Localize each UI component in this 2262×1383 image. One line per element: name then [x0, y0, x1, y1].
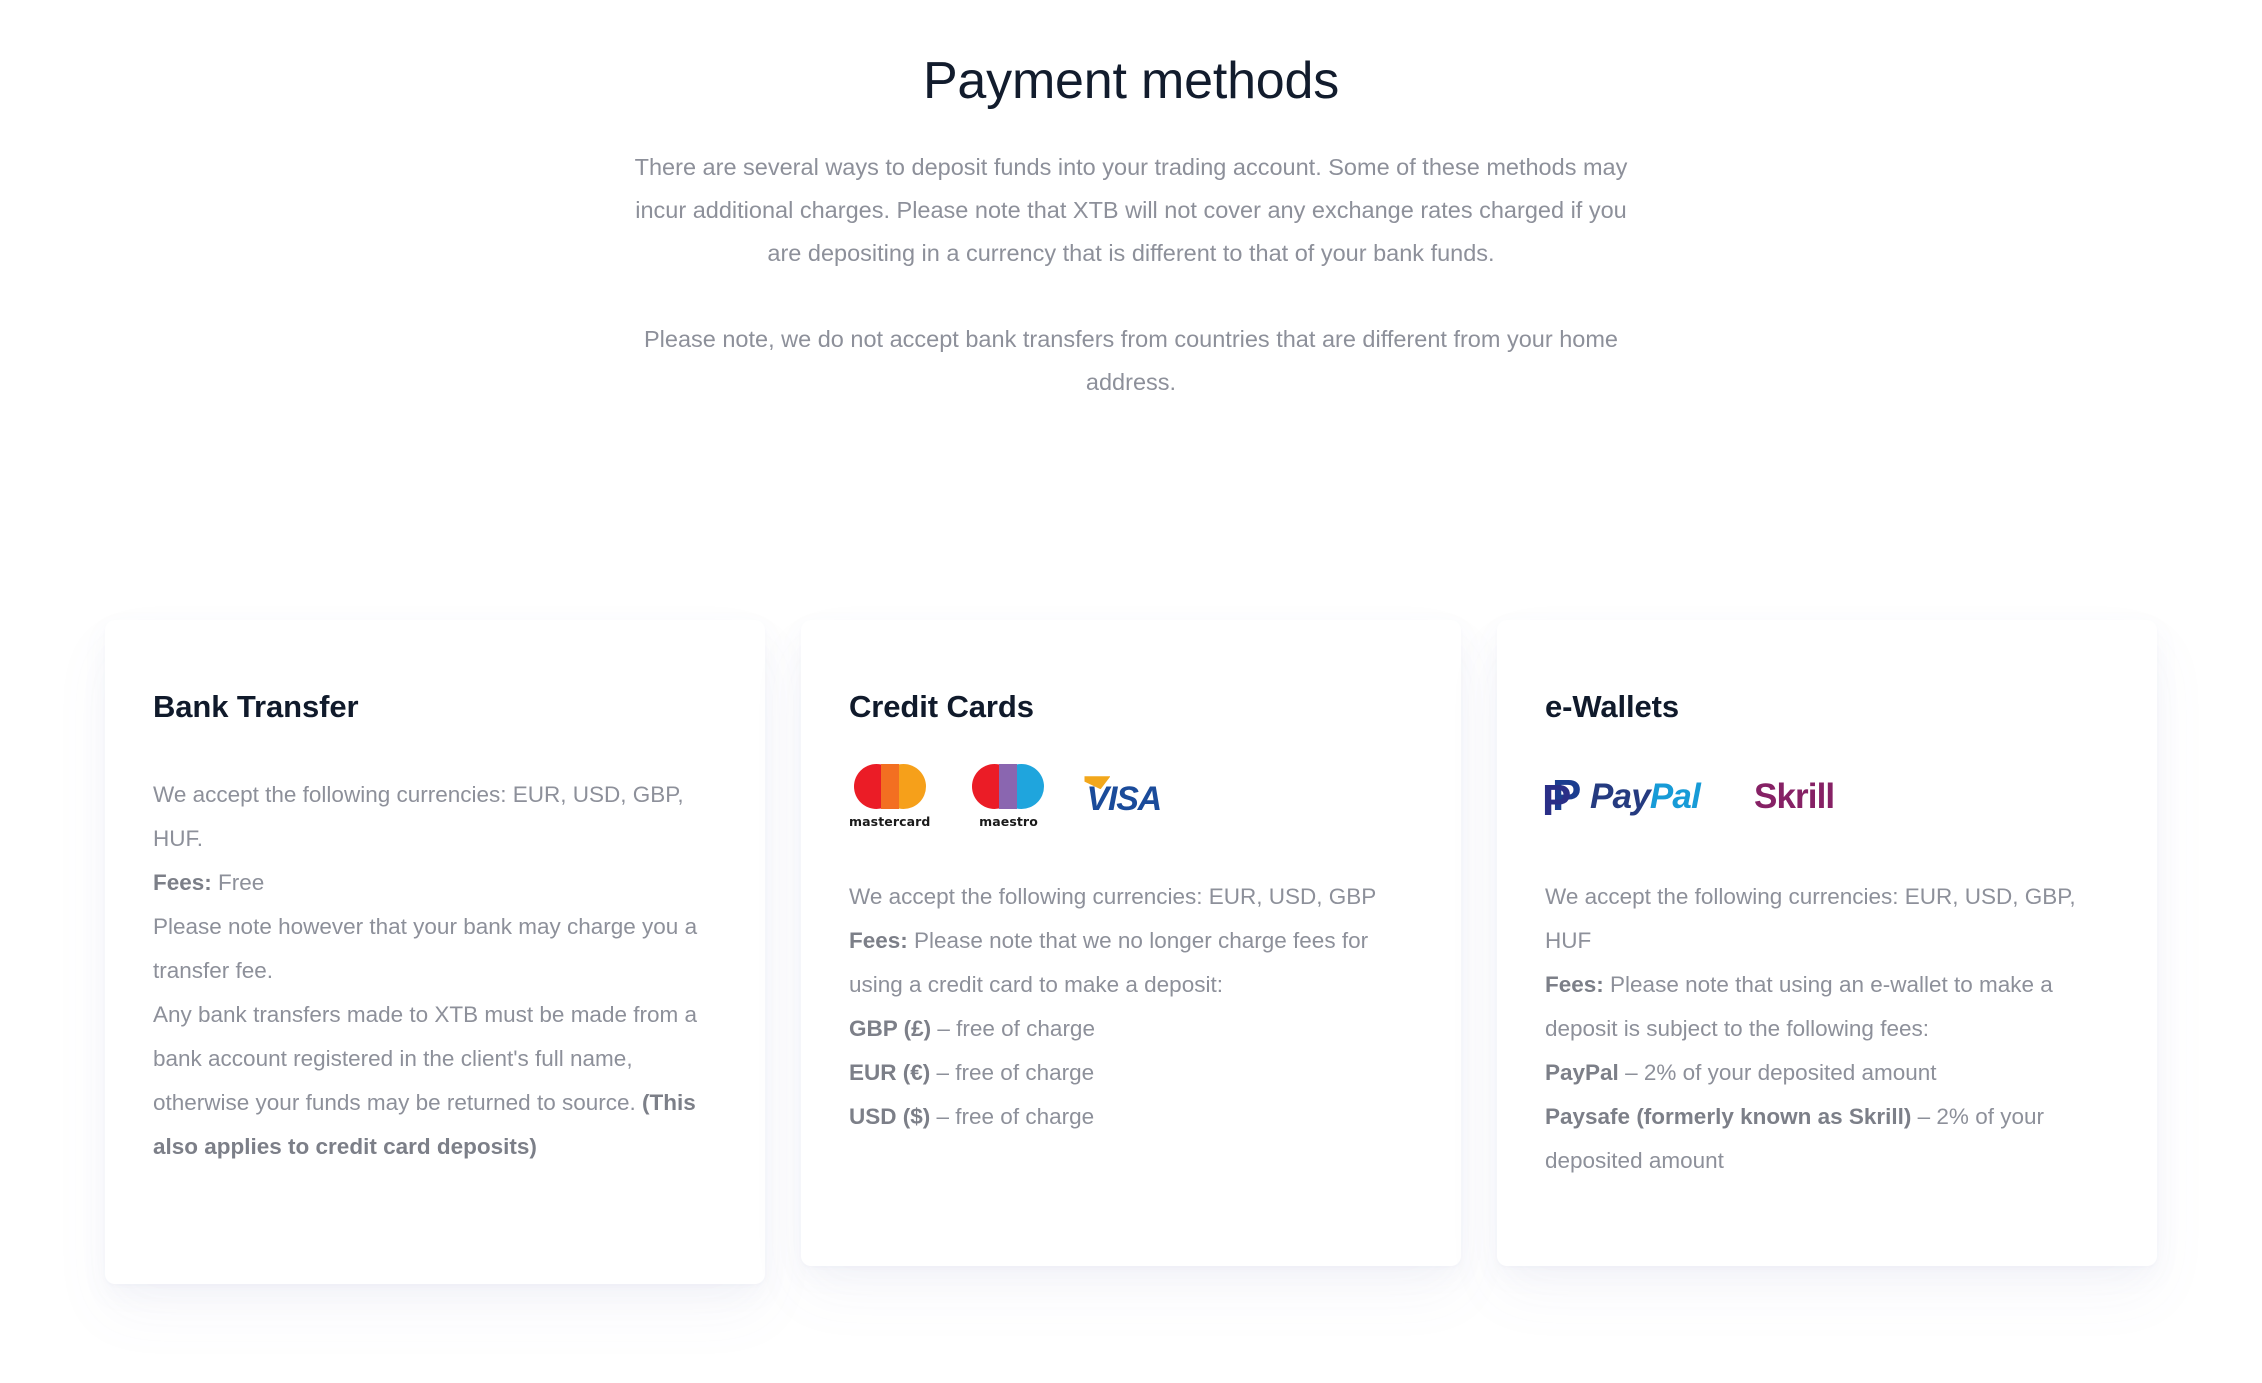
wallet-fee-paypal: PayPal – 2% of your deposited amount — [1545, 1051, 2109, 1095]
paypal-monogram-front: P — [1542, 780, 1571, 822]
card-body-e-wallets: We accept the following currencies: EUR,… — [1545, 875, 2109, 1183]
wallet-fees-value: Please note that using an e-wallet to ma… — [1545, 972, 2053, 1041]
credit-fee-usd-value: – free of charge — [930, 1104, 1094, 1129]
maestro-rings-icon — [972, 764, 1044, 809]
paypal-wordmark: PayPal — [1590, 779, 1700, 814]
payment-methods-page: Payment methods There are several ways t… — [0, 0, 2262, 1383]
intro-text-block: There are several ways to deposit funds … — [621, 146, 1641, 404]
bank-registration-line: Any bank transfers made to XTB must be m… — [153, 993, 717, 1169]
bank-fees-value: Free — [212, 870, 265, 895]
bank-note-line: Please note however that your bank may c… — [153, 905, 717, 993]
credit-fee-eur-label: EUR (€) — [849, 1060, 930, 1085]
credit-fee-usd: USD ($) – free of charge — [849, 1095, 1413, 1139]
credit-fee-usd-label: USD ($) — [849, 1104, 930, 1129]
intro-paragraph-1: There are several ways to deposit funds … — [621, 146, 1641, 275]
wallet-fees-label: Fees: — [1545, 972, 1604, 997]
credit-fee-eur-value: – free of charge — [930, 1060, 1094, 1085]
wallet-fees-line: Fees: Please note that using an e-wallet… — [1545, 963, 2109, 1051]
card-e-wallets: e-Wallets P P PayPal Skrill We accept th… — [1497, 620, 2157, 1266]
skrill-logo: Skrill — [1754, 779, 1834, 814]
paypal-wordmark-pay: Pay — [1590, 777, 1650, 816]
card-body-bank-transfer: We accept the following currencies: EUR,… — [153, 773, 717, 1169]
mastercard-rings-icon — [854, 764, 926, 809]
credit-currencies-line: We accept the following currencies: EUR,… — [849, 875, 1413, 919]
e-wallet-logo-strip: P P PayPal Skrill — [1545, 765, 2109, 827]
intro-paragraph-2: Please note, we do not accept bank trans… — [621, 318, 1641, 404]
wallet-fee-paysafe-label: Paysafe (formerly known as Skrill) — [1545, 1104, 1911, 1129]
card-bank-transfer: Bank Transfer We accept the following cu… — [105, 620, 765, 1284]
wallet-fee-paypal-value: – 2% of your deposited amount — [1619, 1060, 1937, 1085]
wallet-currencies-line: We accept the following currencies: EUR,… — [1545, 875, 2109, 963]
page-header: Payment methods There are several ways t… — [0, 0, 2262, 404]
paypal-monogram-icon: P P — [1545, 775, 1579, 817]
card-title-e-wallets: e-Wallets — [1545, 688, 2109, 725]
credit-card-logo-strip: mastercard maestro VISA — [849, 765, 1413, 827]
wallet-fee-paypal-label: PayPal — [1545, 1060, 1619, 1085]
credit-fees-line: Fees: Please note that we no longer char… — [849, 919, 1413, 1007]
card-title-bank-transfer: Bank Transfer — [153, 688, 717, 725]
page-title: Payment methods — [0, 52, 2262, 112]
card-credit-cards: Credit Cards mastercard — [801, 620, 1461, 1266]
payment-method-cards: Bank Transfer We accept the following cu… — [0, 620, 2262, 1284]
card-body-credit-cards: We accept the following currencies: EUR,… — [849, 875, 1413, 1139]
maestro-logo: maestro — [972, 764, 1044, 829]
wallet-fee-paysafe: Paysafe (formerly known as Skrill) – 2% … — [1545, 1095, 2109, 1183]
mastercard-logo: mastercard — [849, 764, 930, 829]
credit-fees-label: Fees: — [849, 928, 908, 953]
bank-registration-text: Any bank transfers made to XTB must be m… — [153, 1002, 697, 1115]
bank-fees-line: Fees: Free — [153, 861, 717, 905]
credit-fees-value: Please note that we no longer charge fee… — [849, 928, 1368, 997]
mastercard-ring-overlap — [881, 764, 899, 809]
bank-currencies-line: We accept the following currencies: EUR,… — [153, 773, 717, 861]
bank-fees-label: Fees: — [153, 870, 212, 895]
paypal-wordmark-pal: Pal — [1650, 777, 1700, 816]
paypal-logo: P P PayPal — [1545, 775, 1700, 817]
credit-fee-gbp: GBP (£) – free of charge — [849, 1007, 1413, 1051]
credit-fee-eur: EUR (€) – free of charge — [849, 1051, 1413, 1095]
credit-fee-gbp-label: GBP (£) — [849, 1016, 931, 1041]
credit-fee-gbp-value: – free of charge — [931, 1016, 1095, 1041]
visa-logo: VISA — [1086, 776, 1161, 816]
card-title-credit-cards: Credit Cards — [849, 688, 1413, 725]
maestro-wordmark: maestro — [979, 814, 1038, 829]
mastercard-wordmark: mastercard — [849, 814, 930, 829]
maestro-ring-overlap — [999, 764, 1017, 809]
